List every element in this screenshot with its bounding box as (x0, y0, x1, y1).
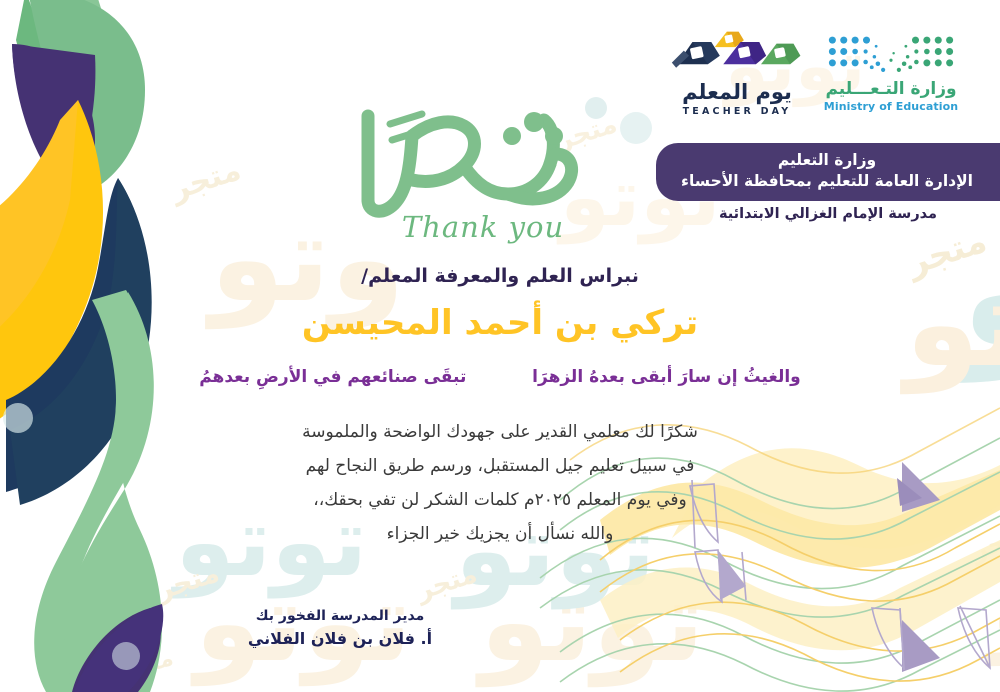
paragraph-line-2: في سبيل تعليم جيل المستقبل، ورسم طريق ال… (150, 449, 850, 483)
body-paragraph: شكرًا لك معلمي القدير على جهودك الواضحة … (150, 415, 850, 551)
honoree-name: تركي بن أحمد المحيسن (0, 303, 1000, 343)
thanks-calligraphy: Thank you (338, 88, 628, 263)
ministry-of-education-logo: وزارة التـعـــليم Ministry of Education (818, 34, 964, 113)
verse-line: والغيثُ إن سارَ أبقى بعدهُ الزهرَا تبقَى… (0, 367, 1000, 387)
honoree-label: نبراس العلم والمعرفة المعلم/ (0, 265, 1000, 287)
school-name: مدرسة الإمام الغزالي الابتدائية (656, 206, 1000, 222)
teacher-day-arabic-label: يوم المعلم (662, 80, 812, 104)
verse-hemistich-right: تبقَى صنائعهم في الأرضِ بعدهمُ (199, 367, 466, 387)
ministry-english-label: Ministry of Education (818, 100, 964, 113)
teacher-day-logo: يوم المعلم TEACHER DAY (662, 30, 812, 117)
paragraph-line-3: وفي يوم المعلم ٢٠٢٥م كلمات الشكر لن تفي … (150, 483, 850, 517)
verse-hemistich-left: والغيثُ إن سارَ أبقى بعدهُ الزهرَا (532, 367, 801, 387)
ministry-banner: وزارة التعليم الإدارة العامة للتعليم بمح… (656, 143, 1000, 201)
signature-role: مدير المدرسة الفخور بك (180, 606, 500, 627)
paragraph-line-1: شكرًا لك معلمي القدير على جهودك الواضحة … (150, 415, 850, 449)
signature-name: أ. فلان بن فلان الفلاني (180, 627, 500, 651)
ministry-banner-line-2: الإدارة العامة للتعليم بمحافظة الأحساء (674, 171, 980, 192)
teacher-day-english-label: TEACHER DAY (662, 106, 812, 117)
ministry-arabic-label: وزارة التـعـــليم (818, 79, 964, 99)
certificate-canvas: توتو توتو متجر وتو متجر توتو توتو متجر م… (0, 0, 1000, 692)
thank-you-english: Thank you (338, 210, 628, 244)
ministry-banner-line-1: وزارة التعليم (674, 150, 980, 171)
moe-dot-matrix-mark-icon (818, 34, 964, 76)
signature-block: مدير المدرسة الفخور بك أ. فلان بن فلان ا… (180, 606, 500, 651)
content-layer: يوم المعلم TEACHER DAY (0, 0, 1000, 692)
paragraph-line-4: والله نسأل أن يجزيك خير الجزاء (150, 517, 850, 551)
teacher-day-caps-mark-icon (662, 30, 812, 78)
